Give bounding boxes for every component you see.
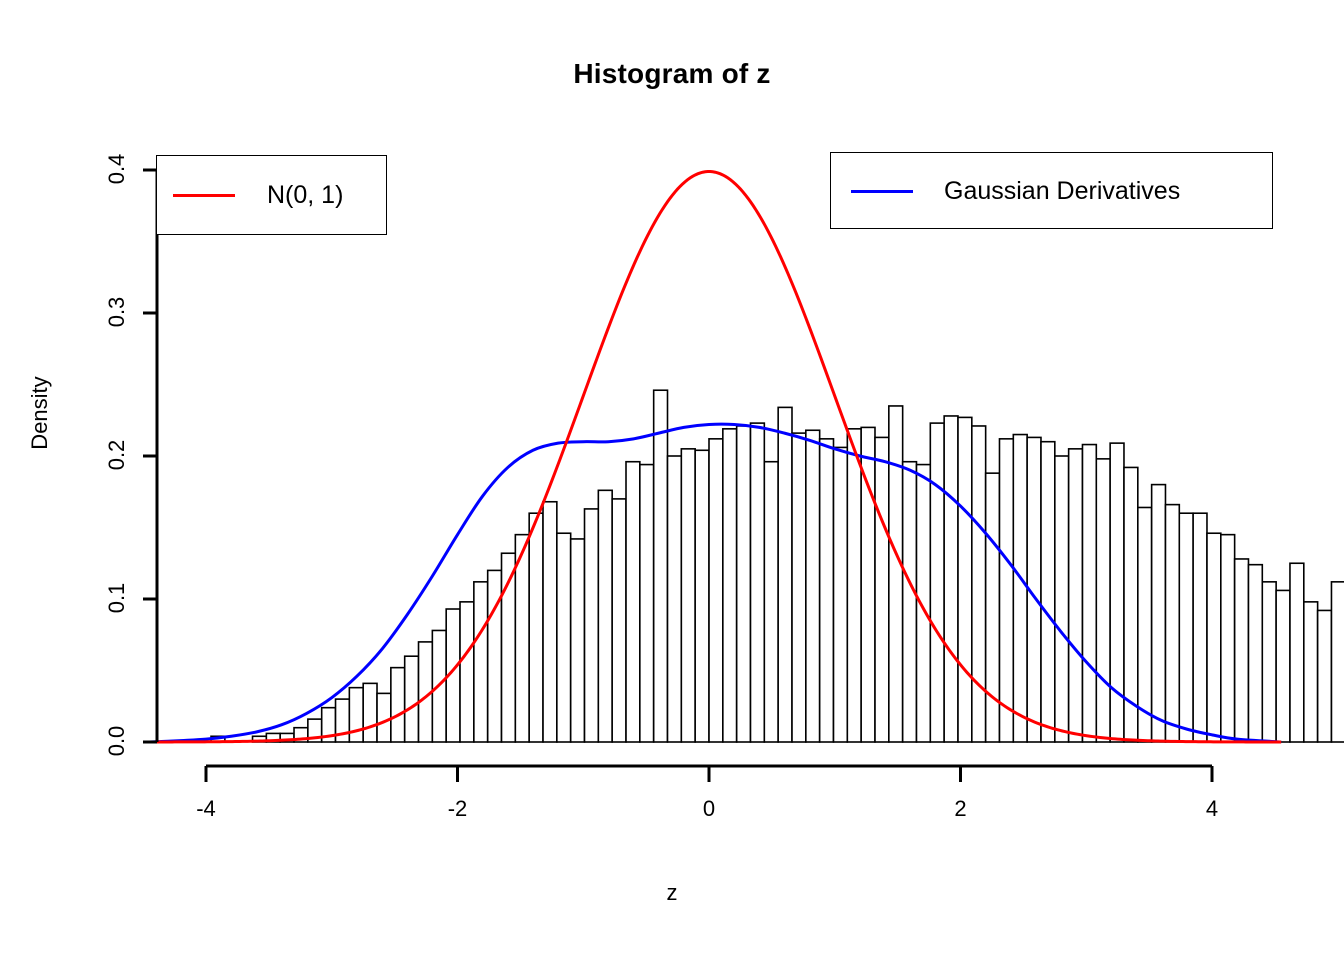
histogram-bar	[612, 499, 626, 742]
histogram-bar	[1276, 590, 1290, 742]
histogram-bar	[571, 539, 585, 742]
legend-gaussian-derivatives[interactable]: Gaussian Derivatives	[830, 152, 1273, 229]
histogram-bar	[806, 430, 820, 742]
histogram-bar	[889, 406, 903, 742]
histogram-bar	[640, 465, 654, 742]
histogram-bar	[764, 462, 778, 742]
y-tick-label: 0.2	[104, 415, 130, 495]
histogram-bar	[1069, 449, 1083, 742]
histogram-bar	[474, 582, 488, 742]
histogram-bar	[460, 602, 474, 742]
histogram-bar	[999, 439, 1013, 742]
x-tick-label: 4	[1172, 796, 1252, 822]
histogram-bar	[1248, 565, 1262, 742]
histogram-bar	[349, 688, 363, 742]
histogram-bar	[363, 683, 377, 742]
chart-canvas: Histogram of z Density z 0.00.10.20.30.4…	[0, 0, 1344, 960]
histogram-bar	[750, 423, 764, 742]
y-tick-label: 0.3	[104, 272, 130, 352]
histogram-bar	[681, 449, 695, 742]
histogram-bar	[930, 423, 944, 742]
histogram-bar	[1331, 582, 1344, 742]
histogram-bar	[543, 502, 557, 742]
x-tick-label: 2	[921, 796, 1001, 822]
histogram-bar	[944, 416, 958, 742]
histogram-bar	[1318, 610, 1332, 742]
histogram-bar	[557, 533, 571, 742]
histogram-bar	[1290, 563, 1304, 742]
x-axis	[206, 766, 1212, 782]
histogram-bar	[598, 490, 612, 742]
histogram-bar	[903, 462, 917, 742]
histogram-bar	[1082, 445, 1096, 742]
histogram-bar	[668, 456, 682, 742]
histogram-bar	[1013, 435, 1027, 742]
histogram-bar	[972, 426, 986, 742]
histogram-bar	[391, 668, 405, 742]
histogram-bar	[958, 417, 972, 742]
histogram-bar	[723, 429, 737, 742]
histogram-bar	[1055, 456, 1069, 742]
histogram-bar	[626, 462, 640, 742]
histogram-bar	[875, 437, 889, 742]
legend-label-normal: N(0, 1)	[267, 181, 343, 210]
y-tick-label: 0.0	[104, 701, 130, 781]
histogram-bars	[211, 390, 1344, 742]
histogram-bar	[488, 570, 502, 742]
histogram-bar	[1207, 533, 1221, 742]
histogram-bar	[1165, 505, 1179, 742]
histogram-bar	[529, 513, 543, 742]
histogram-bar	[1193, 513, 1207, 742]
histogram-bar	[709, 439, 723, 742]
y-tick-label: 0.4	[104, 129, 130, 209]
histogram-bar	[1096, 459, 1110, 742]
histogram-bar	[820, 439, 834, 742]
histogram-bar	[1221, 535, 1235, 742]
x-tick-label: 0	[669, 796, 749, 822]
legend-label-gaussian-derivatives: Gaussian Derivatives	[944, 177, 1180, 206]
histogram-bar	[1235, 559, 1249, 742]
y-axis	[143, 170, 157, 742]
histogram-bar	[1152, 485, 1166, 742]
histogram-bar	[1041, 442, 1055, 742]
x-tick-label: -4	[166, 796, 246, 822]
histogram-bar	[377, 693, 391, 742]
y-tick-label: 0.1	[104, 558, 130, 638]
histogram-bar	[778, 407, 792, 742]
legend-normal[interactable]: N(0, 1)	[156, 155, 387, 235]
x-tick-label: -2	[418, 796, 498, 822]
histogram-bar	[1262, 582, 1276, 742]
histogram-bar	[1179, 513, 1193, 742]
histogram-bar	[405, 656, 419, 742]
legend-line-normal	[173, 194, 235, 197]
histogram-bar	[916, 465, 930, 742]
legend-line-gaussian-derivatives	[851, 190, 913, 193]
histogram-bar	[847, 429, 861, 742]
histogram-bar	[833, 447, 847, 742]
histogram-bar	[792, 433, 806, 742]
histogram-bar	[737, 426, 751, 742]
histogram-bar	[1304, 602, 1318, 742]
histogram-bar	[585, 509, 599, 742]
histogram-bar	[654, 390, 668, 742]
histogram-bar	[695, 450, 709, 742]
